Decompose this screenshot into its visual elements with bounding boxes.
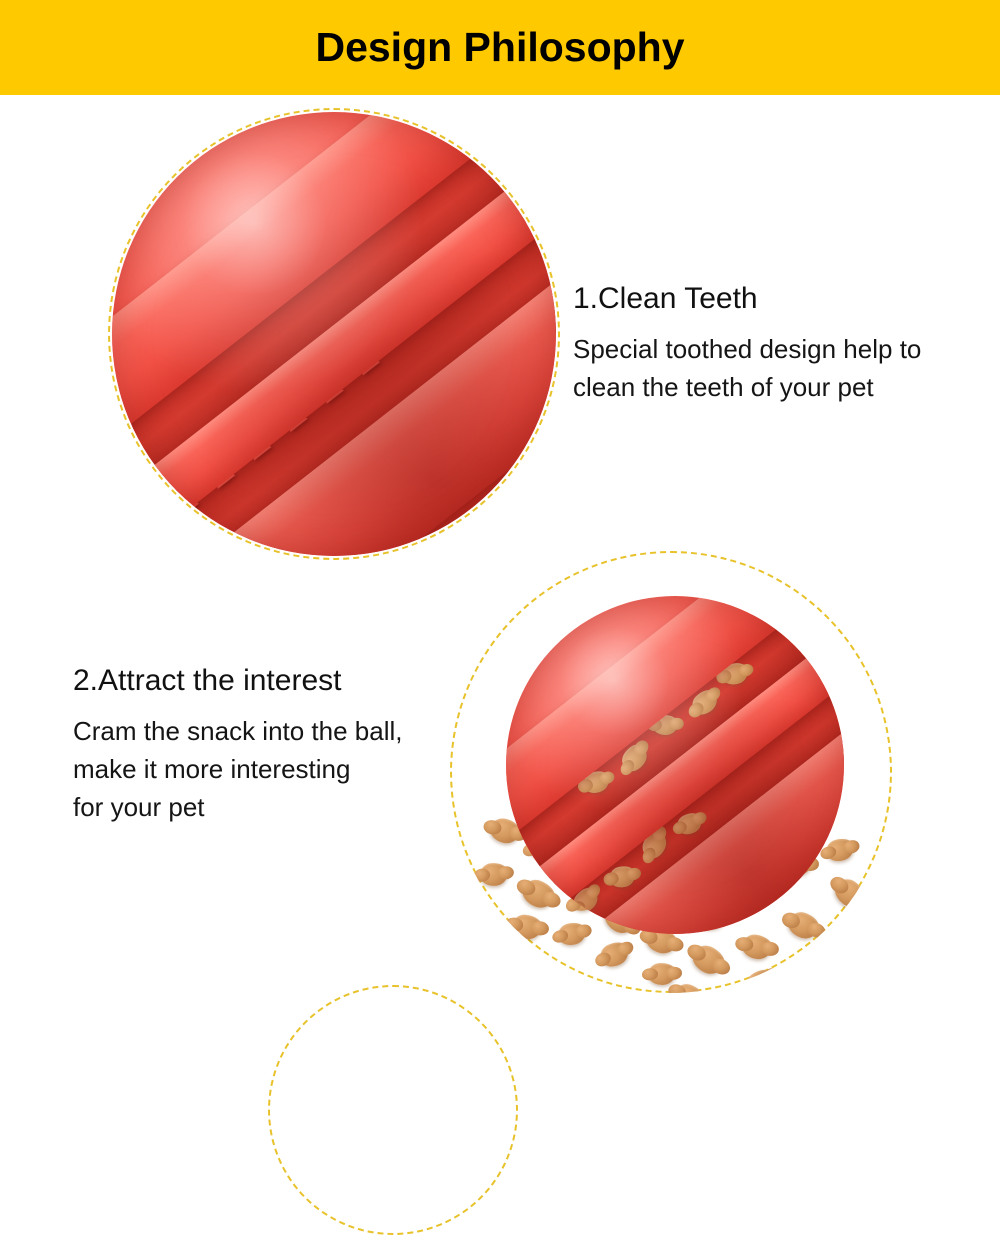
- next-section-dashed-arc: [268, 985, 518, 1235]
- page-title: Design Philosophy: [315, 27, 684, 68]
- feature-1-heading: 1.Clean Teeth: [573, 283, 758, 315]
- feature-1-ball-image: [112, 112, 556, 556]
- ball-2-structure: [506, 596, 844, 934]
- feature-2-body-line-1: Cram the snack into the ball,: [73, 712, 403, 750]
- feature-2-body-line-2: make it more interesting: [73, 750, 403, 788]
- feature-1-body: Special toothed design help to clean the…: [573, 330, 921, 406]
- header-banner: Design Philosophy: [0, 0, 1000, 95]
- feature-2-ball-image: [506, 596, 844, 934]
- feature-1-body-line-1: Special toothed design help to: [573, 330, 921, 368]
- feature-2-heading: 2.Attract the interest: [73, 665, 341, 697]
- ball-1-structure: [112, 112, 556, 556]
- feature-2-body-line-3: for your pet: [73, 788, 403, 826]
- feature-2-body: Cram the snack into the ball, make it mo…: [73, 712, 403, 826]
- feature-1-body-line-2: clean the teeth of your pet: [573, 368, 921, 406]
